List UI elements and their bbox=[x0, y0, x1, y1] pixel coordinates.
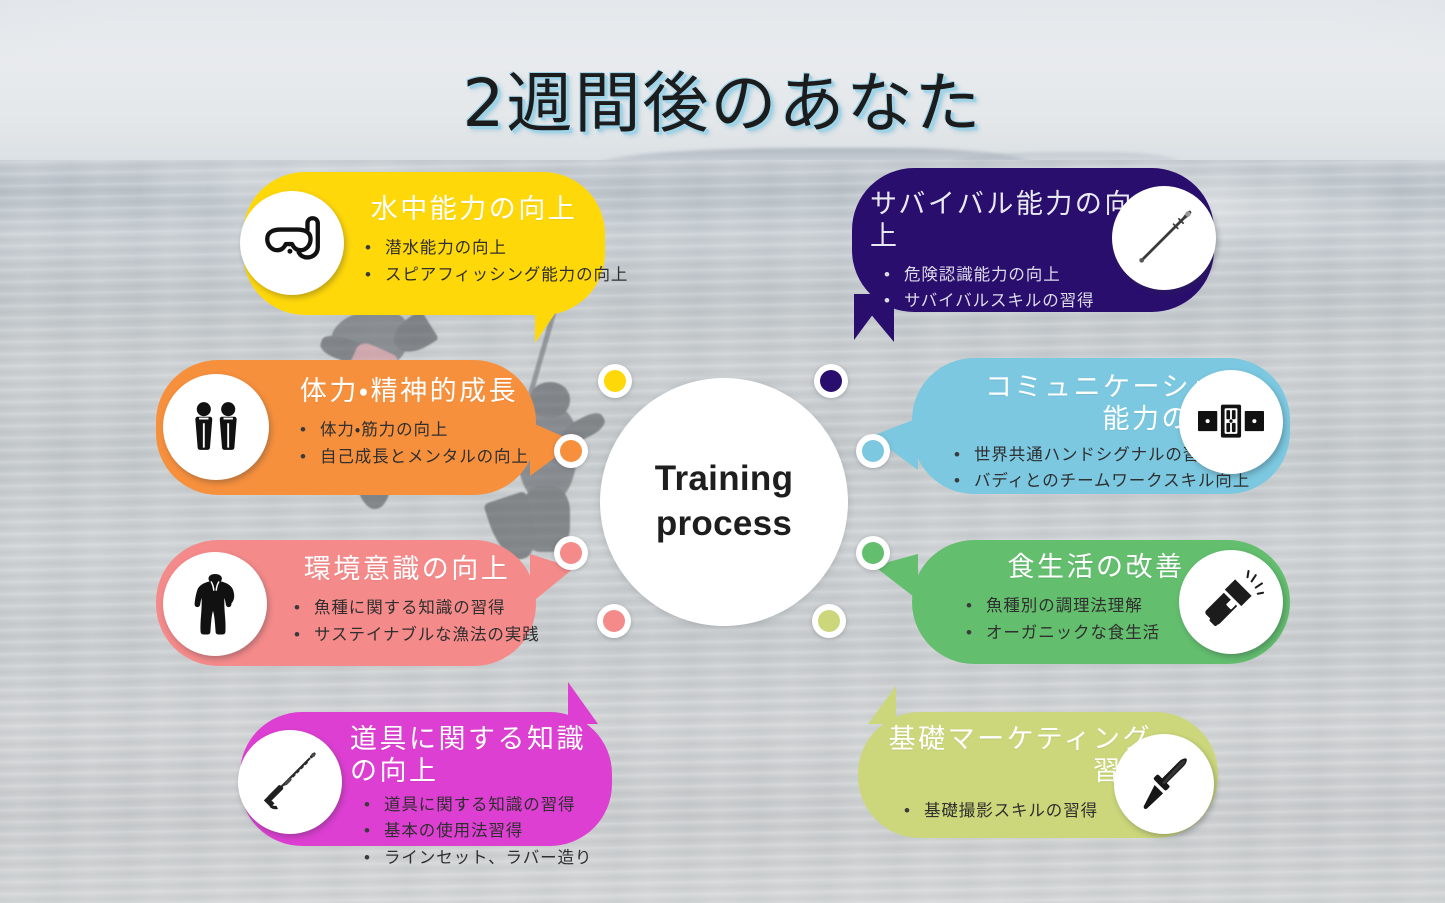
dot-skyblue-fill bbox=[862, 440, 884, 462]
page-title: 2週間後のあなた bbox=[0, 50, 1445, 146]
bubble-tail bbox=[535, 293, 569, 343]
bubble-tail bbox=[568, 682, 598, 724]
dot-orange[interactable] bbox=[554, 434, 588, 468]
center-hub[interactable]: Training process bbox=[600, 378, 848, 626]
speargun-icon bbox=[238, 730, 342, 834]
bubble-diet-improvement[interactable]: 食生活の改善 魚種別の調理法理解 オーガニックな食生活 bbox=[912, 540, 1290, 664]
bullet-item: 潜水能力の向上 bbox=[363, 235, 589, 262]
bubble-body: 体力・精神的成長 体力・筋力の向上 自己成長とメンタルの向上 bbox=[284, 376, 534, 470]
dot-magenta-fill bbox=[603, 610, 625, 632]
bubble-bullet-list: 体力・筋力の向上 自己成長とメンタルの向上 bbox=[298, 417, 534, 470]
bubble-tail bbox=[868, 686, 896, 724]
bubble-equipment-knowledge[interactable]: 道具に関する知識 の向上 道具に関する知識の習得 基本の使用法習得 ラインセット… bbox=[240, 712, 612, 846]
bubble-bullet-list: 魚種に関する知識の習得 サステイナブルな漁法の実践 bbox=[292, 595, 530, 648]
bubble-basic-marketing[interactable]: 基礎マーケティング 習得 基礎撮影スキルの習得 bbox=[858, 712, 1218, 838]
flashlight-icon bbox=[1179, 550, 1283, 654]
weight-belt-icon bbox=[1179, 370, 1283, 474]
dot-purple-fill bbox=[820, 370, 842, 392]
wetsuit-icon bbox=[163, 552, 267, 656]
spear-pole-icon bbox=[1112, 186, 1216, 290]
bullet-item: ラインセット、ラバー造り bbox=[362, 845, 608, 872]
bubble-bullet-list: 潜水能力の向上 スピアフィッシング能力の向上 bbox=[363, 235, 589, 288]
bubble-bullet-list: 道具に関する知識の習得 基本の使用法習得 ラインセット、ラバー造り bbox=[362, 792, 608, 872]
dot-purple[interactable] bbox=[814, 364, 848, 398]
bubble-title: 道具に関する知識 の向上 bbox=[350, 724, 608, 788]
bullet-item: バディとのチームワークスキル向上 bbox=[952, 468, 1256, 495]
bullet-item: 魚種に関する知識の習得 bbox=[292, 595, 530, 622]
bubble-title: 環境意識の向上 bbox=[284, 554, 530, 586]
bubble-communication-ability[interactable]: コミュニケーション 能力の向上 世界共通ハンドシグナルの習得 バディとのチームワ… bbox=[912, 358, 1290, 494]
hub-label: Training process bbox=[655, 457, 794, 547]
dive-knife-icon bbox=[1114, 734, 1214, 834]
bubble-body: 環境意識の向上 魚種に関する知識の習得 サステイナブルな漁法の実践 bbox=[284, 554, 530, 648]
bullet-item: 自己成長とメンタルの向上 bbox=[298, 444, 534, 471]
dot-green-fill bbox=[862, 542, 884, 564]
bullet-item: 道具に関する知識の習得 bbox=[362, 792, 608, 819]
dot-pink[interactable] bbox=[554, 536, 588, 570]
bubble-body: 水中能力の向上 潜水能力の向上 スピアフィッシング能力の向上 bbox=[359, 194, 589, 288]
bubble-physical-mental-growth[interactable]: 体力・精神的成長 体力・筋力の向上 自己成長とメンタルの向上 bbox=[156, 360, 536, 495]
bubble-title: 水中能力の向上 bbox=[359, 194, 589, 226]
bullet-item: 危険認識能力の向上 bbox=[882, 262, 1160, 289]
bubble-bullet-list: 危険認識能力の向上 サバイバルスキルの習得 bbox=[882, 262, 1160, 315]
bullet-item: 基本の使用法習得 bbox=[362, 818, 608, 845]
dot-olive[interactable] bbox=[812, 604, 846, 638]
dot-skyblue[interactable] bbox=[856, 434, 890, 468]
dot-orange-fill bbox=[560, 440, 582, 462]
bubble-underwater-ability[interactable]: 水中能力の向上 潜水能力の向上 スピアフィッシング能力の向上 bbox=[243, 172, 605, 315]
bullet-item: サバイバルスキルの習得 bbox=[882, 288, 1160, 315]
bubble-environmental-awareness[interactable]: 環境意識の向上 魚種に関する知識の習得 サステイナブルな漁法の実践 bbox=[156, 540, 536, 666]
snorkel-mask-icon bbox=[240, 191, 344, 295]
bullet-item: 体力・筋力の向上 bbox=[298, 417, 534, 444]
bubble-body: 道具に関する知識 の向上 道具に関する知識の習得 基本の使用法習得 ラインセット… bbox=[350, 724, 608, 872]
bubble-title: 体力・精神的成長 bbox=[284, 376, 534, 408]
dot-magenta[interactable] bbox=[597, 604, 631, 638]
infographic-canvas: 2週間後のあなた 水中能力の向上 潜水能力の向上 スピアフィッシング能力の向上 bbox=[0, 0, 1445, 903]
bullet-item: スピアフィッシング能力の向上 bbox=[363, 262, 589, 289]
dot-olive-fill bbox=[818, 610, 840, 632]
dot-yellow[interactable] bbox=[598, 364, 632, 398]
bubble-survival-ability[interactable]: サバイバル能力の向上 危険認識能力の向上 サバイバルスキルの習得 bbox=[852, 168, 1214, 312]
dot-green[interactable] bbox=[856, 536, 890, 570]
swim-fins-icon bbox=[163, 374, 269, 480]
dot-pink-fill bbox=[560, 542, 582, 564]
dot-yellow-fill bbox=[604, 370, 626, 392]
bullet-item: サステイナブルな漁法の実践 bbox=[292, 622, 530, 649]
